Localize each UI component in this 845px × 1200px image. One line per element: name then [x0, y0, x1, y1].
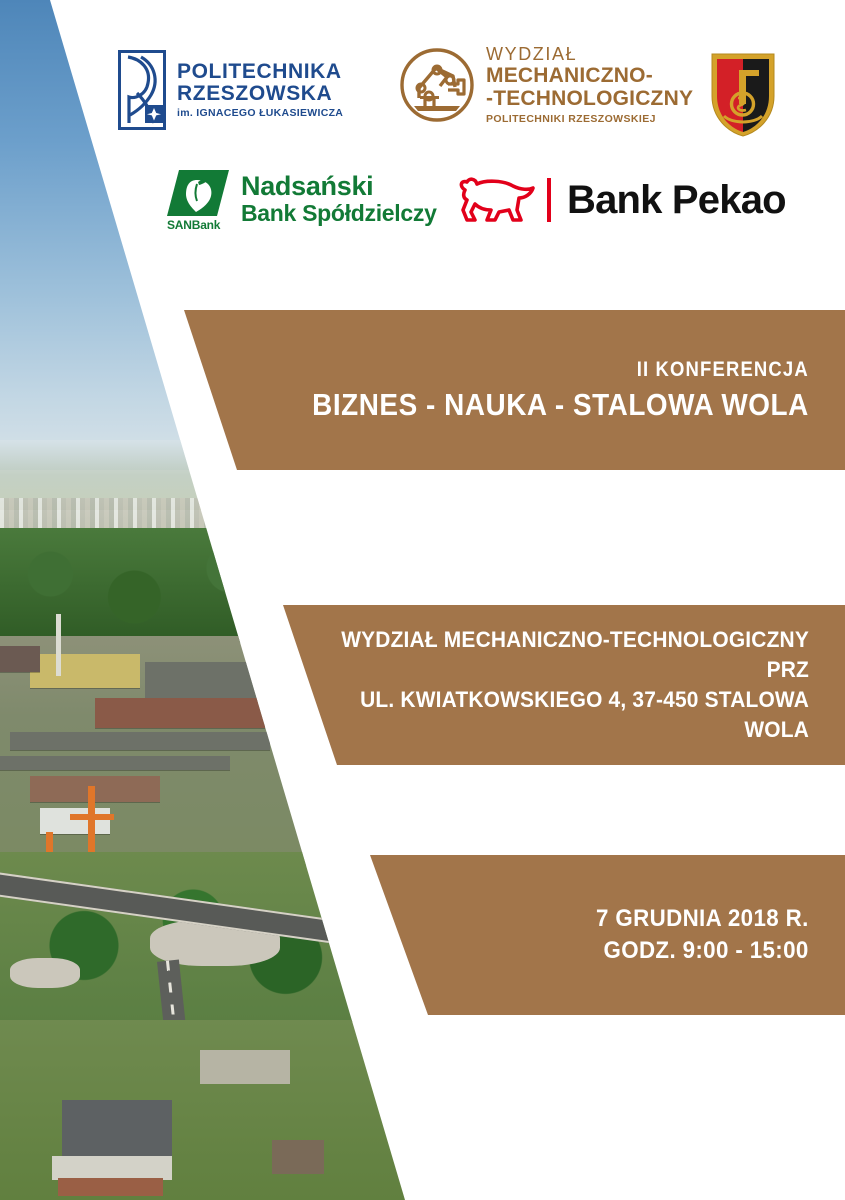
logo-coat-of-arms	[706, 48, 780, 145]
venue-line-1: WYDZIAŁ MECHANICZNO-TECHNOLOGICZNY PRZ	[303, 625, 809, 685]
wmt-line-4: POLITECHNIKI RZESZOWSKIEJ	[486, 113, 693, 125]
logo-row-primary: POLITECHNIKA RZESZOWSKA im. IGNACEGO ŁUK…	[118, 44, 818, 144]
conference-subtitle: II KONFERENCJA	[323, 357, 809, 383]
photo-bottom-buildings	[0, 1020, 420, 1200]
coat-of-arms-shield-icon	[706, 48, 780, 145]
band-conference-title: II KONFERENCJA BIZNES - NAUKA - STALOWA …	[175, 310, 845, 470]
sanbank-logo-text: Nadsański Bank Spółdzielczy	[241, 172, 437, 227]
pr-line-1: POLITECHNIKA	[177, 61, 343, 83]
logo-nadsanski-bank: SANBank Nadsański Bank Spółdzielczy	[165, 168, 437, 230]
conference-title: BIZNES - NAUKA - STALOWA WOLA	[312, 386, 809, 424]
logo-wydzial-mechaniczno-technologiczny: WYDZIAŁ MECHANICZNO- -TECHNOLOGICZNY POL…	[398, 44, 693, 125]
photo-green-area	[0, 852, 420, 1022]
band-date: 7 GRUDNIA 2018 R. GODZ. 9:00 - 15:00	[350, 855, 845, 1015]
time-line: GODZ. 9:00 - 15:00	[596, 935, 809, 967]
sanbank-line-1: Nadsański	[241, 172, 437, 200]
date-line: 7 GRUDNIA 2018 R.	[596, 903, 809, 935]
logo-row-sponsors: SANBank Nadsański Bank Spółdzielczy Bank…	[165, 162, 805, 252]
sanbank-line-2: Bank Spółdzielczy	[241, 200, 437, 227]
logo-bank-pekao: Bank Pekao	[455, 176, 786, 224]
sanbank-caption: SANBank	[167, 218, 220, 232]
pekao-bison-icon	[455, 176, 537, 224]
robot-arm-circle-icon	[398, 46, 476, 124]
pr-line-2: RZESZOWSKA	[177, 83, 343, 105]
pekao-wordmark: Bank Pekao	[567, 179, 786, 221]
wmt-logo-text: WYDZIAŁ MECHANICZNO- -TECHNOLOGICZNY POL…	[486, 44, 693, 125]
wmt-line-2: MECHANICZNO-	[486, 64, 693, 87]
pr-monogram-icon	[118, 50, 166, 130]
logo-politechnika-rzeszowska: POLITECHNIKA RZESZOWSKA im. IGNACEGO ŁUK…	[118, 50, 343, 130]
wmt-line-3: -TECHNOLOGICZNY	[486, 87, 693, 110]
sanbank-apple-icon: SANBank	[165, 168, 231, 230]
wmt-line-1: WYDZIAŁ	[486, 44, 693, 64]
pr-line-3: im. IGNACEGO ŁUKASIEWICZA	[177, 107, 343, 119]
pr-logo-text: POLITECHNIKA RZESZOWSKA im. IGNACEGO ŁUK…	[177, 61, 343, 119]
band-venue: WYDZIAŁ MECHANICZNO-TECHNOLOGICZNY PRZ U…	[265, 605, 845, 765]
pekao-divider	[547, 178, 551, 222]
venue-line-2: UL. KWIATKOWSKIEGO 4, 37-450 STALOWA WOL…	[303, 685, 809, 745]
conference-poster: POLITECHNIKA RZESZOWSKA im. IGNACEGO ŁUK…	[0, 0, 845, 1200]
